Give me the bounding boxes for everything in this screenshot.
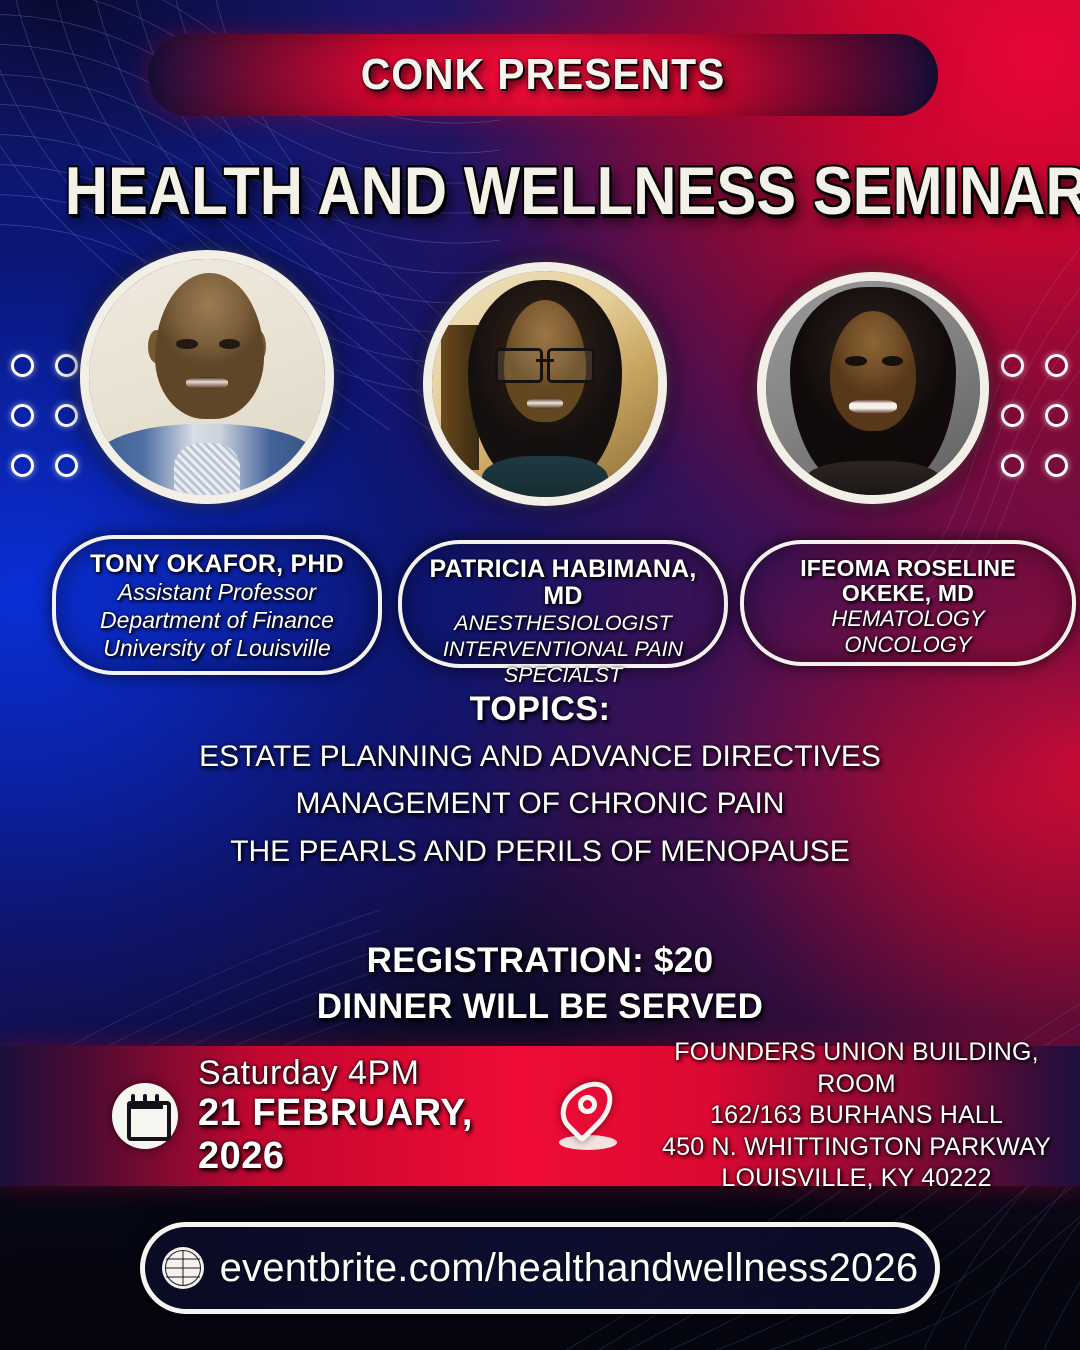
globe-icon: [162, 1247, 204, 1289]
speaker-name: IFEOMA ROSELINE OKEKE, MD: [756, 556, 1060, 606]
dot-grid-right: [990, 340, 1078, 490]
speaker-role-line: ONCOLOGY: [756, 632, 1060, 659]
map-pin-icon: [559, 1078, 617, 1154]
speaker-badge-3: IFEOMA ROSELINE OKEKE, MD HEMATOLOGY ONC…: [740, 540, 1076, 666]
speaker-role-line: Assistant Professor: [68, 578, 366, 606]
speaker-photo-3: [757, 272, 989, 504]
speaker-role-line: INTERVENTIONAL PAIN: [414, 636, 712, 662]
presenter-banner-text: CONK PRESENTS: [361, 50, 726, 100]
topics-heading: TOPICS:: [0, 690, 1080, 729]
topics-section: TOPICS: ESTATE PLANNING AND ADVANCE DIRE…: [0, 690, 1080, 880]
page-title: HEALTH AND WELLNESS SEMINAR 2026: [65, 152, 1015, 230]
event-details-band: Saturday 4PM 21 FEBRUARY, 2026 FOUNDERS …: [0, 1046, 1080, 1186]
speaker-name: PATRICIA HABIMANA, MD: [414, 556, 712, 610]
speaker-badge-2: PATRICIA HABIMANA, MD ANESTHESIOLOGIST I…: [398, 540, 728, 668]
event-day-time: Saturday 4PM: [198, 1055, 559, 1092]
speaker-role-line: University of Louisville: [68, 634, 366, 662]
registration-url[interactable]: eventbrite.com/healthandwellness2026: [220, 1246, 919, 1291]
ring-dot-icon: [55, 354, 78, 377]
location-block: FOUNDERS UNION BUILDING, ROOM 162/163 BU…: [559, 1037, 1080, 1195]
speaker-photo-1: [80, 250, 334, 504]
ring-dot-icon: [1001, 404, 1024, 427]
speaker-role-line: SPECIALST: [414, 662, 712, 688]
topic-item: ESTATE PLANNING AND ADVANCE DIRECTIVES: [0, 738, 1080, 776]
ring-dot-icon: [1001, 354, 1024, 377]
ring-dot-icon: [55, 454, 78, 477]
address-line: FOUNDERS UNION BUILDING, ROOM: [633, 1037, 1080, 1100]
registration-fee: REGISTRATION: $20: [0, 938, 1080, 984]
portrait-patricia-habimana: [432, 271, 658, 497]
ring-dot-icon: [11, 404, 34, 427]
address-line: 162/163 BURHANS HALL: [633, 1100, 1080, 1132]
topic-item: THE PEARLS AND PERILS OF MENOPAUSE: [0, 833, 1080, 871]
address-line: LOUISVILLE, KY 40222: [633, 1163, 1080, 1195]
ring-dot-icon: [55, 404, 78, 427]
ring-dot-icon: [1045, 404, 1068, 427]
event-date: 21 FEBRUARY, 2026: [198, 1092, 559, 1177]
registration-url-pill[interactable]: eventbrite.com/healthandwellness2026: [140, 1222, 940, 1314]
ring-dot-icon: [1001, 454, 1024, 477]
presenter-banner: CONK PRESENTS: [148, 34, 938, 116]
ring-dot-icon: [11, 454, 34, 477]
portrait-ifeoma-roseline-okeke: [766, 281, 980, 495]
speaker-name: TONY OKAFOR, PHD: [68, 551, 366, 578]
date-block: Saturday 4PM 21 FEBRUARY, 2026: [112, 1055, 559, 1177]
ring-dot-icon: [1045, 354, 1068, 377]
speaker-role-line: ANESTHESIOLOGIST: [414, 610, 712, 636]
registration-section: REGISTRATION: $20 DINNER WILL BE SERVED: [0, 938, 1080, 1030]
speaker-photo-2: [423, 262, 667, 506]
ring-dot-icon: [1045, 454, 1068, 477]
address-line: 450 N. WHITTINGTON PARKWAY: [633, 1132, 1080, 1164]
dinner-note: DINNER WILL BE SERVED: [0, 984, 1080, 1030]
speaker-role-line: Department of Finance: [68, 606, 366, 634]
calendar-icon: [112, 1083, 178, 1149]
ring-dot-icon: [11, 354, 34, 377]
speaker-badge-1: TONY OKAFOR, PHD Assistant Professor Dep…: [52, 535, 382, 675]
topic-item: MANAGEMENT OF CHRONIC PAIN: [0, 785, 1080, 823]
dot-grid-left: [0, 340, 88, 490]
portrait-tony-okafor: [89, 259, 325, 495]
speaker-role-line: HEMATOLOGY: [756, 606, 1060, 633]
event-flyer: CONK PRESENTS HEALTH AND WELLNESS SEMINA…: [0, 0, 1080, 1350]
